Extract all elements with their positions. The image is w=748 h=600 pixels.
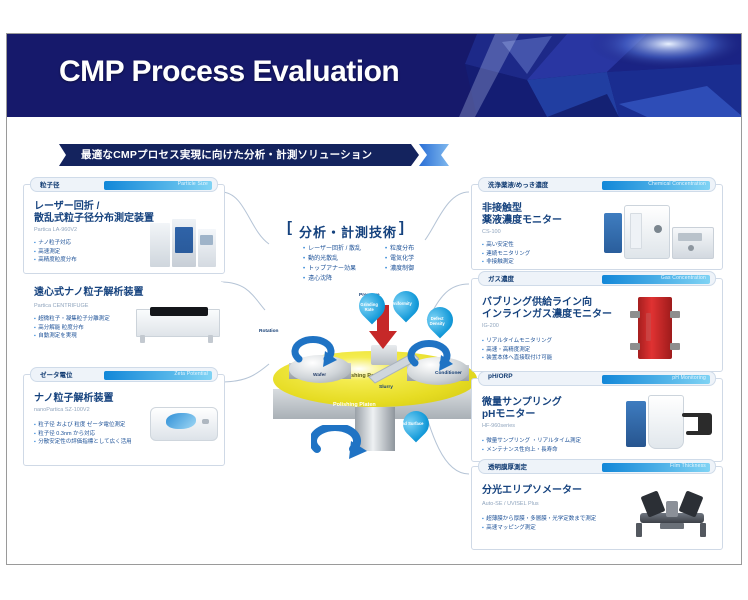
left-card-1-header: 粒子径 Particle Size (30, 177, 218, 192)
right-card-2[interactable]: ガス濃度 Gas Concentration バブリング供給ライン向 インライン… (471, 278, 723, 372)
tech-bracket-right: ] (399, 219, 404, 236)
tech-bracket-left: [ (287, 219, 292, 236)
left-card-1-device-image (148, 219, 218, 267)
left-card-3-tag-badge: Zeta Potential (174, 371, 208, 377)
slide-canvas: CMP Process Evaluation 最適なCMPプロセス実現に向けた分… (6, 33, 742, 565)
bullet: 高速・高精度測定 (482, 346, 552, 355)
bullet: 微量サンプリング ・リアルタイム測定 (482, 437, 581, 446)
callout-drop-1-label: Grinding Rate (356, 294, 382, 312)
wafer-label: Wafer (313, 373, 326, 378)
left-card-2-bullets: 超微粒子・凝集粒子分離測定 高分解能 粒度分布 自動測定を実現 (34, 315, 110, 341)
bullet: 連続モニタリング (482, 250, 530, 259)
tech-item: トップアナー効果 (303, 264, 385, 274)
left-card-1-tag: 粒子径 (40, 179, 60, 189)
left-card-2[interactable]: 遠心式ナノ粒子解析装置 Partica CENTRIFUGE 超微粒子・凝集粒子… (23, 282, 225, 364)
bullet: 自動測定を実現 (34, 332, 110, 341)
callout-drop-3-label: Defect Density (424, 308, 450, 326)
left-card-3-device-image (150, 401, 218, 445)
bullet: 超薄膜から厚膜・多層膜・光学定数まで測定 (482, 515, 596, 524)
right-card-2-header: ガス濃度 Gas Concentration (478, 271, 716, 286)
cmp-polisher-illustration: Polishing Pad Polishing Platen Wafer Pre… (255, 289, 495, 464)
tech-item: 濃度制御 (385, 264, 467, 274)
bullet: 高速マッピング測定 (482, 524, 596, 533)
bullet: メンテナンス性向上・長寿命 (482, 446, 581, 455)
bullet: リアルタイムモニタリング (482, 337, 552, 346)
right-card-1-model: CS-100 (482, 229, 501, 235)
bullet: 高速測定 (34, 248, 77, 257)
right-card-1-header: 洗浄薬液/めっき濃度 Chemical Concentration (478, 177, 716, 192)
page-title: CMP Process Evaluation (59, 55, 399, 89)
right-card-4-tag-badge: Film Thickness (670, 463, 706, 469)
right-card-3-header: pH/ORP pH Monitoring (478, 371, 716, 386)
left-card-1[interactable]: 粒子径 Particle Size レーザー回折 / 散乱式粒子径分布測定装置 … (23, 184, 225, 274)
left-card-1-model: Partica LA-960V2 (34, 227, 77, 233)
right-card-2-bullets: リアルタイムモニタリング 高速・高精度測定 装置本体へ直接取付け可能 (482, 337, 552, 363)
left-card-3-model: nanoPartica SZ-100V2 (34, 407, 90, 413)
right-card-1-bullets: 高い安定性 連続モニタリング 非接触測定 (482, 241, 530, 267)
right-card-3-bullets: 微量サンプリング ・リアルタイム測定 メンテナンス性向上・長寿命 (482, 437, 581, 454)
left-card-1-product-name: レーザー回折 / 散乱式粒子径分布測定装置 (34, 201, 154, 225)
right-card-4-device-image (630, 479, 716, 541)
bullet: 高精度粒度分布 (34, 256, 77, 265)
bullet: 高い安定性 (482, 241, 530, 250)
left-card-3-product-name: ナノ粒子解析装置 (34, 393, 114, 405)
ribbon-text: 最適なCMPプロセス実現に向けた分析・計測ソリューション (81, 147, 372, 162)
ribbon-tail-accent (419, 144, 449, 166)
slide-header: CMP Process Evaluation (7, 34, 742, 117)
conditioner-label: Conditioner (435, 371, 462, 376)
right-card-4[interactable]: 透明膜厚測定 Film Thickness 分光エリプソメーター Auto-SE… (471, 466, 723, 550)
rotation-label: Rotation (259, 329, 278, 334)
left-card-3-tag: ゼータ電位 (40, 369, 73, 379)
bullet: 粒子径 および 粒度 ゼータ電位測定 (34, 421, 132, 430)
bullet: 粒子径 0.3nm から対応 (34, 430, 132, 439)
right-card-2-tag-badge: Gas Concentration (661, 275, 706, 281)
subtitle-ribbon: 最適なCMPプロセス実現に向けた分析・計測ソリューション (59, 144, 451, 166)
tech-item: レーザー回折 / 散乱 (303, 244, 385, 254)
right-card-2-tag: ガス濃度 (488, 273, 514, 283)
left-card-2-device-image (136, 301, 218, 345)
right-card-3-model: HF-960series (482, 423, 515, 429)
right-card-4-tag: 透明膜厚測定 (488, 461, 527, 471)
right-card-1-device-image (604, 203, 716, 261)
left-card-2-product-name: 遠心式ナノ粒子解析装置 (34, 287, 144, 299)
rotation-arrow-left-icon (291, 333, 337, 373)
bullet: ナノ粒子対応 (34, 239, 77, 248)
tech-item: 遠心沈降 (303, 274, 385, 284)
right-card-4-header: 透明膜厚測定 Film Thickness (478, 459, 716, 474)
right-card-4-bullets: 超薄膜から厚膜・多層膜・光学定数まで測定 高速マッピング測定 (482, 515, 596, 532)
right-card-4-product-name: 分光エリプソメーター (482, 485, 582, 497)
bullet: 分散安定性の評価指標として広く活用 (34, 438, 132, 447)
bullet: 装置本体へ直接取付け可能 (482, 354, 552, 363)
right-card-3-product-name: 微量サンプリング pHモニター (482, 397, 562, 421)
tech-title: 分析・計測技術 (299, 222, 397, 241)
right-card-3-tag-badge: pH Monitoring (672, 375, 706, 381)
right-card-2-device-image (622, 295, 702, 363)
left-card-1-tag-badge: Particle Size (178, 181, 208, 187)
right-card-4-model: Auto-SE / UVISEL Plus (482, 501, 539, 507)
left-card-1-bullets: ナノ粒子対応 高速測定 高精度粒度分布 (34, 239, 77, 265)
bullet: 超微粒子・凝集粒子分離測定 (34, 315, 110, 324)
tech-item: 粒度分布 (385, 244, 467, 254)
callout-drop-3[interactable]: Defect Density (422, 302, 459, 339)
bullet: 高分解能 粒度分布 (34, 324, 110, 333)
right-card-1[interactable]: 洗浄薬液/めっき濃度 Chemical Concentration 非接触型 薬… (471, 184, 723, 270)
tech-list: レーザー回折 / 散乱粒度分布動的光散乱電気化学トップアナー効果濃度制御遠心沈降 (303, 244, 473, 284)
left-card-2-model: Partica CENTRIFUGE (34, 303, 88, 309)
right-card-1-product-name: 非接触型 薬液濃度モニター (482, 203, 562, 227)
bullet: 非接触測定 (482, 258, 530, 267)
callout-drop-2-label: Uniformity (388, 293, 414, 306)
right-card-3-tag: pH/ORP (488, 373, 513, 380)
rotation-arrow-platen-icon (311, 425, 369, 463)
right-card-3-device-image (624, 391, 716, 453)
left-card-3[interactable]: ゼータ電位 Zeta Potential ナノ粒子解析装置 nanoPartic… (23, 374, 225, 466)
tech-item: 電気化学 (385, 254, 467, 264)
right-card-1-tag: 洗浄薬液/めっき濃度 (488, 179, 548, 189)
right-card-1-tag-badge: Chemical Concentration (648, 181, 706, 187)
slurry-label: Slurry (379, 385, 393, 390)
callout-drop-4-label: Pad Surface (398, 413, 424, 426)
left-card-3-bullets: 粒子径 および 粒度 ゼータ電位測定 粒子径 0.3nm から対応 分散安定性の… (34, 421, 132, 447)
right-card-3[interactable]: pH/ORP pH Monitoring 微量サンプリング pHモニター HF-… (471, 378, 723, 462)
left-card-3-header: ゼータ電位 Zeta Potential (30, 367, 218, 382)
right-card-2-model: IG-200 (482, 323, 499, 329)
tech-item: 動的光散乱 (303, 254, 385, 264)
right-card-2-product-name: バブリング供給ライン向 インラインガス濃度モニター (482, 297, 612, 321)
